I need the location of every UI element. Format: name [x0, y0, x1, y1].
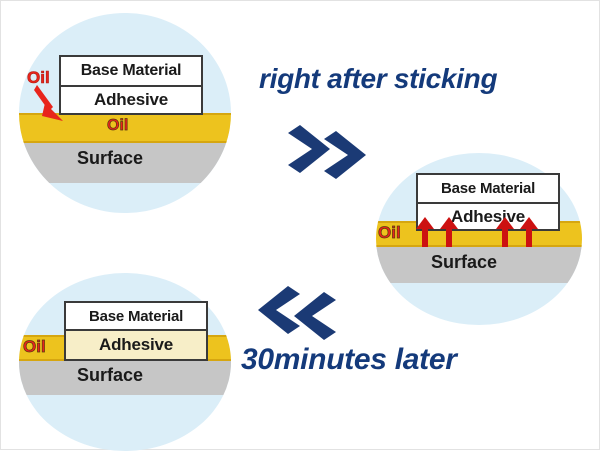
oil-absorption-arrows-icon	[416, 217, 548, 249]
caption-right-after-sticking: right after sticking	[259, 63, 497, 95]
layer-stack-before: Base Material Adhesive	[59, 55, 203, 115]
adhesive-layer-after-30min: Adhesive	[66, 331, 206, 359]
chevron-left-down-icon	[256, 284, 338, 346]
base-material-layer-before: Base Material	[61, 57, 201, 87]
adhesive-layer-before: Adhesive	[61, 87, 201, 113]
surface-band-label-right-after: Surface	[431, 252, 497, 273]
panel-before: Base Material Adhesive Oil Surface Oil	[19, 13, 231, 213]
oil-band-label-after-30min: Oil	[23, 337, 46, 357]
base-material-layer-right-after: Base Material	[418, 175, 558, 204]
surface-band-label-after-30min: Surface	[77, 365, 143, 386]
base-material-layer-after-30min: Base Material	[66, 303, 206, 331]
panel-right-after: Base Material Adhesive Oil Surface	[376, 153, 582, 325]
panel-after-30min-circle	[19, 273, 231, 451]
oil-band-label-right-after: Oil	[378, 223, 401, 243]
layer-stack-after-30min: Base Material Adhesive	[64, 301, 208, 361]
chevron-right-down-icon	[286, 123, 368, 185]
oil-inlet-arrow-icon	[33, 83, 73, 125]
panel-after-30min: Base Material Adhesive Oil Surface	[19, 273, 231, 451]
oil-band-label-before: Oil	[107, 117, 128, 135]
surface-band-label-before: Surface	[77, 148, 143, 169]
diagram-canvas: Base Material Adhesive Oil Surface Oil B…	[0, 0, 600, 450]
caption-30-minutes-later: 30minutes later	[241, 343, 457, 377]
